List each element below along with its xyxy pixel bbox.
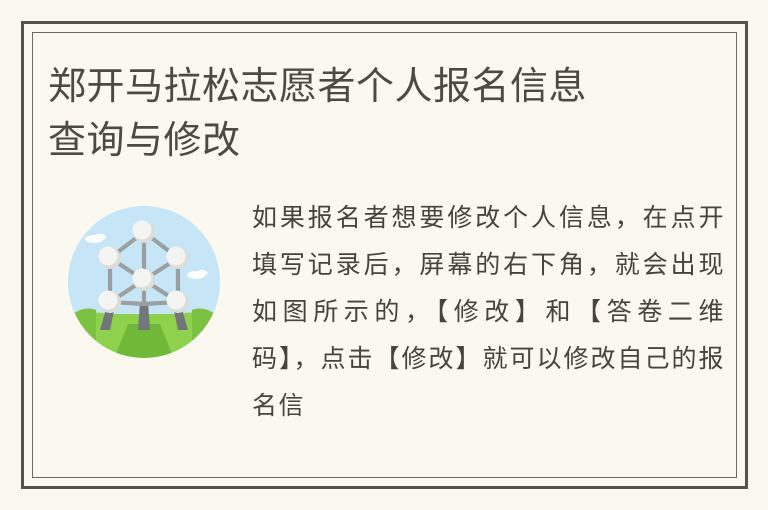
page-title: 郑开马拉松志愿者个人报名信息 查询与修改 [48,60,648,168]
article-body: 如果报名者想要修改个人信息，在点开填写记录后，屏幕的右下角，就会出现如图所示的，… [48,194,725,464]
article-content: 郑开马拉松志愿者个人报名信息 查询与修改 [24,24,745,486]
article-paragraph: 如果报名者想要修改个人信息，在点开填写记录后，屏幕的右下角，就会出现如图所示的，… [252,194,725,429]
atomium-landmark-illustration [68,206,220,358]
decorative-frame-outer: 郑开马拉松志愿者个人报名信息 查询与修改 [21,21,748,489]
article-page: 郑开马拉松志愿者个人报名信息 查询与修改 [0,0,768,510]
